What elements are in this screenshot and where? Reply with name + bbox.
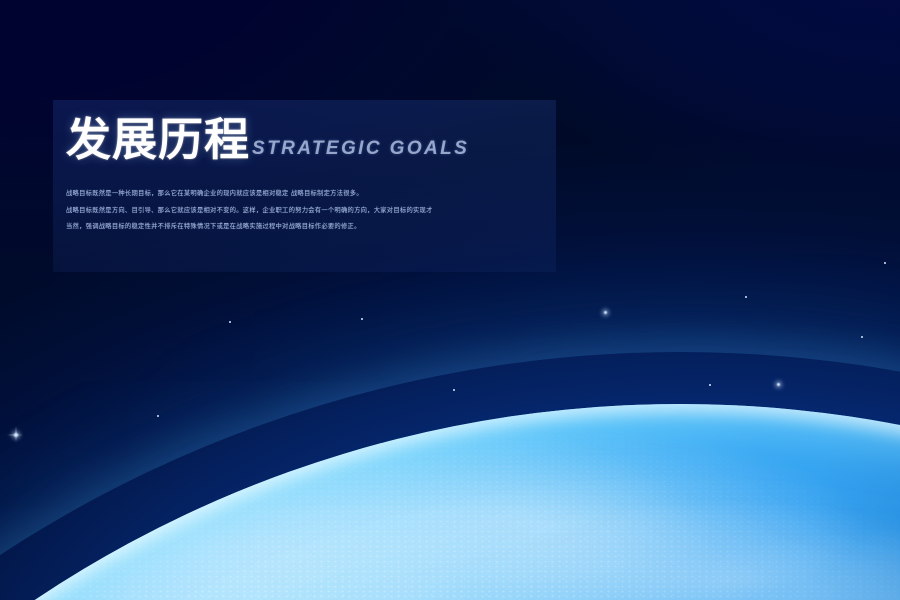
banner-description: 战略目标既然是一种长期目标，那么它在某明确企业的现内就应该是相对稳定 战略目标制… [66,188,546,238]
earth-illustration [0,0,900,600]
description-line: 战略目标既然是一种长期目标，那么它在某明确企业的现内就应该是相对稳定 战略目标制… [66,188,546,200]
description-line: 战略目标既然是方向、目引导、那么它就应该是相对不变的。这样，企业职工的努力会有一… [66,205,546,217]
page-subtitle: STRATEGIC GOALS [252,138,469,163]
banner-heading: 发展历程 STRATEGIC GOALS [66,118,469,163]
banner-canvas: 发展历程 STRATEGIC GOALS 战略目标既然是一种长期目标，那么它在某… [0,0,900,600]
page-title: 发展历程 [66,118,250,163]
description-line: 当然，强调战略目标的稳定性并不排斥在特殊情况下或是在战略实施过程中对战略目标作必… [66,221,546,233]
